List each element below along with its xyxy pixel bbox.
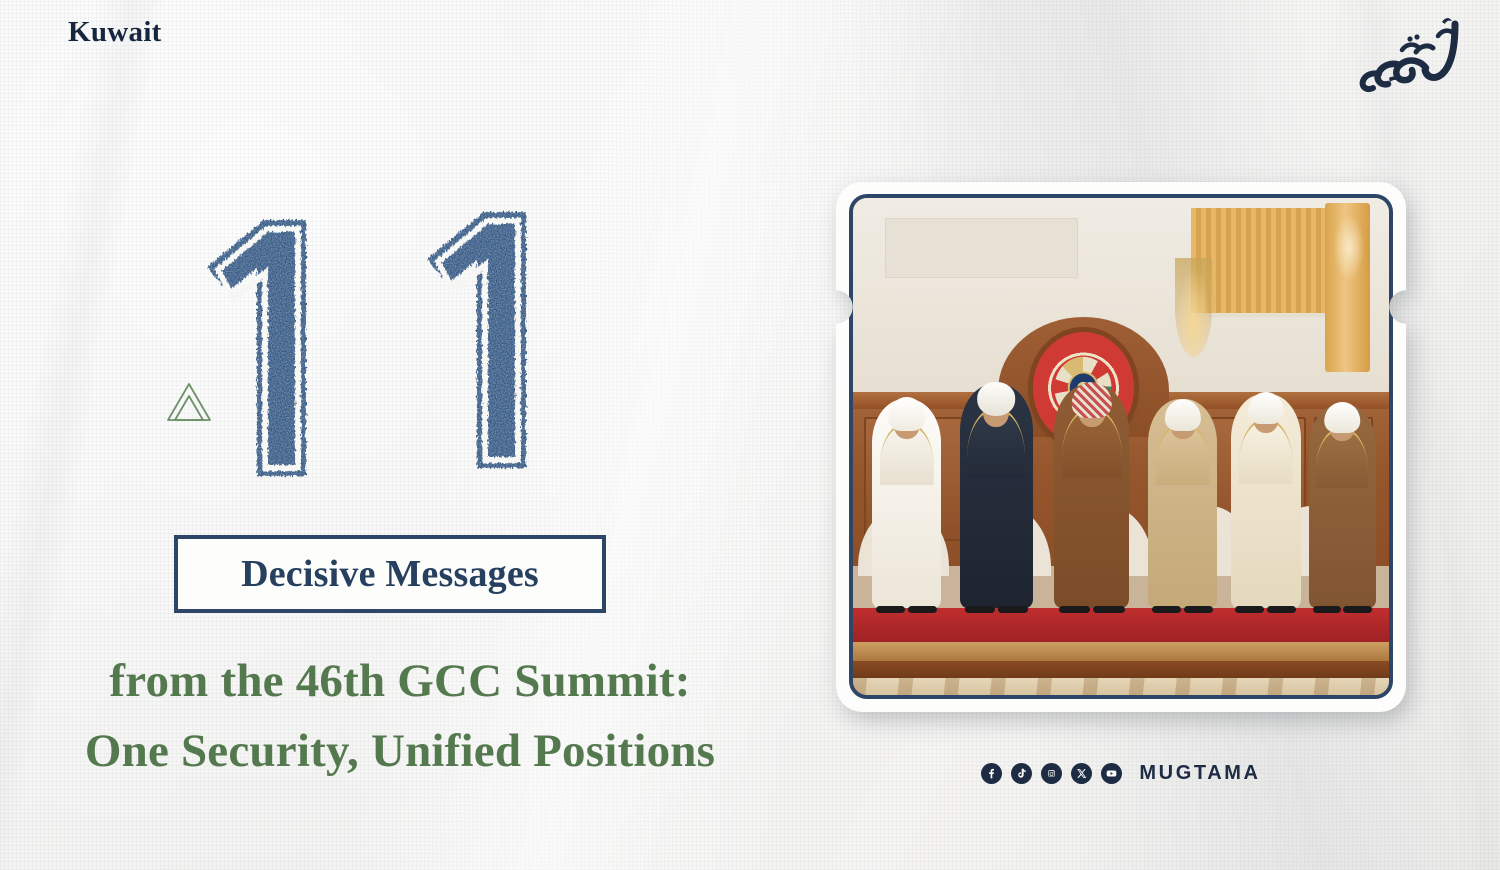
chandelier-secondary — [1333, 213, 1365, 283]
leader-shoe — [1059, 606, 1091, 613]
social-footer: MUGTAMA — [836, 762, 1406, 785]
leader-ghutra — [1165, 399, 1201, 430]
leader-shoe — [965, 606, 995, 613]
leader-shoe — [1267, 606, 1296, 613]
chandelier — [1175, 258, 1213, 357]
instagram-icon[interactable] — [1041, 763, 1062, 784]
leader-figure — [872, 399, 942, 608]
headline-box: Decisive Messages — [174, 535, 606, 613]
leader-shoe — [1093, 606, 1125, 613]
leader-turban — [978, 382, 1016, 416]
summit-photo-card — [836, 182, 1406, 712]
gcc-summit-photo — [853, 198, 1389, 695]
x-twitter-icon[interactable] — [1071, 763, 1092, 784]
subtitle-line-1: from the 46th GCC Summit: — [0, 646, 800, 716]
leader-figure — [1054, 384, 1129, 608]
leader-shoe — [1184, 606, 1213, 613]
leader-figure — [960, 384, 1032, 608]
marble-floor — [853, 678, 1389, 695]
red-carpet — [853, 608, 1389, 643]
facebook-icon[interactable] — [981, 763, 1002, 784]
big-number-11 — [186, 198, 576, 508]
mugtama-arabic-logo — [1354, 8, 1466, 100]
leader-figure — [1148, 399, 1218, 608]
brand-name: MUGTAMA — [1139, 762, 1260, 785]
photo-inner-border — [849, 194, 1393, 699]
leader-shoe — [876, 606, 905, 613]
wall-panel — [885, 218, 1078, 278]
subtitle-block: from the 46th GCC Summit: One Security, … — [0, 646, 800, 786]
leader-shoe — [908, 606, 937, 613]
leader-figure — [1309, 404, 1376, 608]
stage-edge — [853, 642, 1389, 663]
leader-shoe — [998, 606, 1028, 613]
leader-shoe — [1152, 606, 1181, 613]
leader-shoe — [1235, 606, 1264, 613]
nested-triangles-icon — [163, 378, 215, 430]
leader-ghutra — [1324, 402, 1360, 433]
country-label: Kuwait — [68, 16, 162, 49]
leader-figure — [1231, 394, 1301, 608]
headline-text: Decisive Messages — [241, 552, 539, 596]
photo-frame — [836, 182, 1406, 712]
leader-ghutra — [1071, 382, 1112, 418]
stage-face — [853, 661, 1389, 679]
leader-headdress — [888, 397, 926, 430]
tiktok-icon[interactable] — [1011, 763, 1032, 784]
leader-shoe — [1343, 606, 1371, 613]
youtube-icon[interactable] — [1101, 763, 1122, 784]
leader-shoe — [1313, 606, 1341, 613]
subtitle-line-2: One Security, Unified Positions — [0, 716, 800, 786]
